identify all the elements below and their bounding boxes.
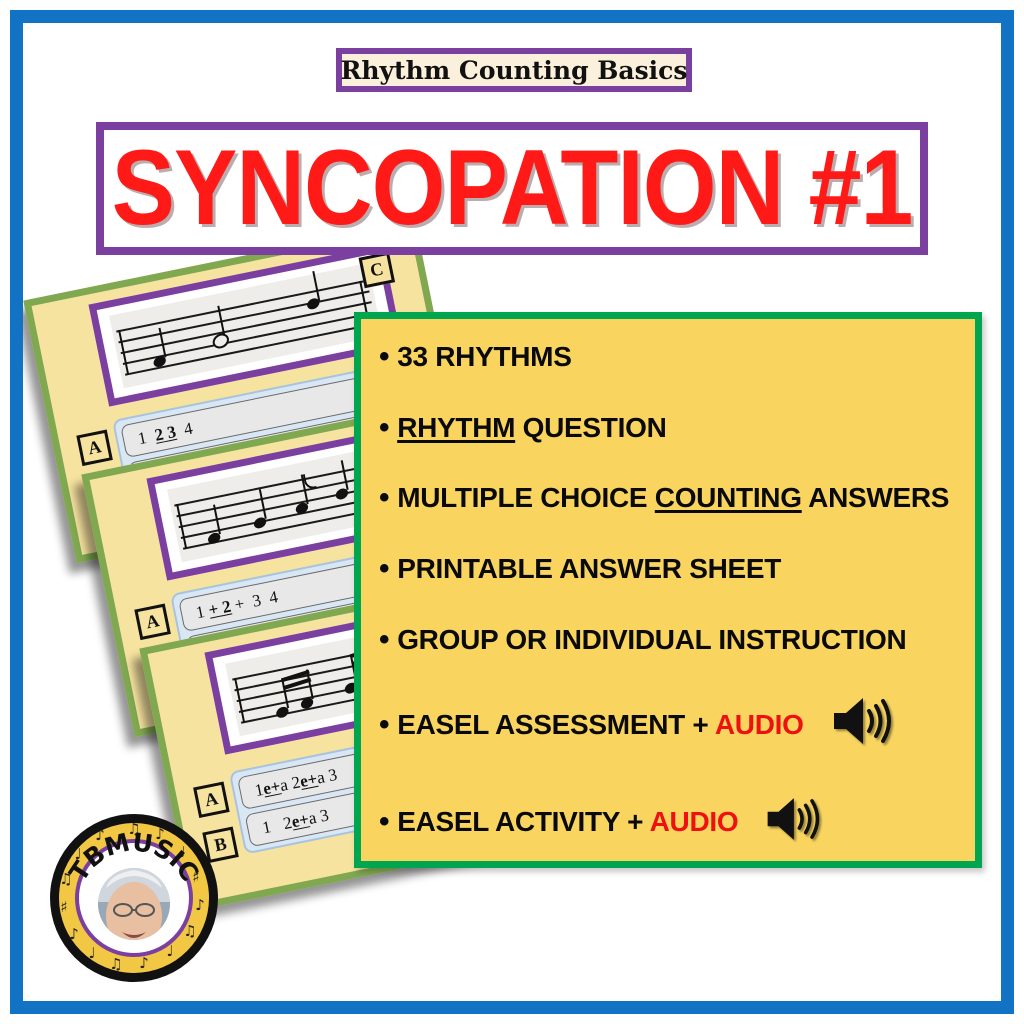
feature-underlined-word: RHYTHM [397, 412, 515, 443]
feature-audio-tag: AUDIO [715, 709, 804, 740]
logo-badge-svg: ♫ ♪ ♩ ♯ ♪ ♫ ♩ ♪ ♫ ♩ ♪ ♯ ♫ ♩ ♪ [48, 812, 220, 984]
answer-badge-c[interactable]: C [359, 252, 396, 289]
bullet-icon: • [379, 554, 389, 584]
bullet-icon: • [379, 625, 389, 655]
bullet-icon: • [379, 342, 389, 372]
feature-list-panel: • 33 RHYTHMS • RHYTHM QUESTION • MULTIPL… [354, 312, 982, 868]
answer-badge-a[interactable]: A [134, 604, 171, 641]
feature-label: MULTIPLE CHOICE COUNTING ANSWERS [397, 482, 949, 514]
svg-text:♯: ♯ [60, 898, 67, 916]
feature-label: PRINTABLE ANSWER SHEET [397, 553, 781, 585]
feature-label: 33 RHYTHMS [397, 341, 571, 373]
svg-text:♫: ♫ [183, 922, 196, 940]
feature-list: • 33 RHYTHMS • RHYTHM QUESTION • MULTIPL… [379, 341, 959, 851]
feature-label-start: MULTIPLE CHOICE [397, 482, 655, 513]
svg-text:♩: ♩ [88, 944, 95, 962]
speaker-icon [764, 794, 822, 851]
header-banner-text: Rhythm Counting Basics [341, 56, 688, 85]
svg-text:♪: ♪ [69, 925, 79, 943]
svg-text:♪: ♪ [195, 896, 205, 914]
feature-label-rest: QUESTION [515, 412, 666, 443]
feature-item-multiple-choice: • MULTIPLE CHOICE COUNTING ANSWERS [379, 482, 959, 514]
feature-item-answer-sheet: • PRINTABLE ANSWER SHEET [379, 553, 959, 585]
poster-canvas: A B C 1 2 3 4 1 2 3 4 1 2 3 4 [0, 0, 1024, 1024]
feature-audio-tag: AUDIO [650, 806, 739, 837]
feature-label-start: EASEL ACTIVITY + [397, 806, 649, 837]
feature-label: EASEL ACTIVITY + AUDIO [397, 806, 738, 838]
feature-item-instruction: • GROUP OR INDIVIDUAL INSTRUCTION [379, 624, 959, 656]
feature-item-rhythm-question: • RHYTHM QUESTION [379, 412, 959, 444]
svg-text:♪: ♪ [139, 954, 149, 972]
svg-text:♫: ♫ [109, 955, 122, 973]
feature-label: RHYTHM QUESTION [397, 412, 666, 444]
bullet-icon: • [379, 413, 389, 443]
header-banner: Rhythm Counting Basics [336, 48, 692, 92]
bullet-icon: • [379, 483, 389, 513]
main-title-box: SYNCOPATION #1 [96, 122, 928, 255]
feature-label-start: EASEL ASSESSMENT + [397, 709, 715, 740]
tbmusic-logo[interactable]: ♫ ♪ ♩ ♯ ♪ ♫ ♩ ♪ ♫ ♩ ♪ ♯ ♫ ♩ ♪ [48, 812, 220, 984]
feature-label: EASEL ASSESSMENT + AUDIO [397, 709, 803, 741]
svg-text:♩: ♩ [166, 942, 173, 960]
page-title: SYNCOPATION #1 [112, 135, 913, 241]
feature-underlined-word: COUNTING [655, 482, 802, 513]
feature-item-rhythms: • 33 RHYTHMS [379, 341, 959, 373]
feature-label-rest: ANSWERS [802, 482, 949, 513]
feature-label: GROUP OR INDIVIDUAL INSTRUCTION [397, 624, 906, 656]
speaker-icon [830, 694, 894, 755]
music-staff [109, 263, 382, 388]
answer-badge-a[interactable]: A [76, 430, 113, 467]
bullet-icon: • [379, 807, 389, 837]
feature-item-easel-activity: • EASEL ACTIVITY + AUDIO [379, 794, 959, 851]
feature-item-easel-assessment: • EASEL ASSESSMENT + AUDIO [379, 694, 959, 755]
bullet-icon: • [379, 710, 389, 740]
